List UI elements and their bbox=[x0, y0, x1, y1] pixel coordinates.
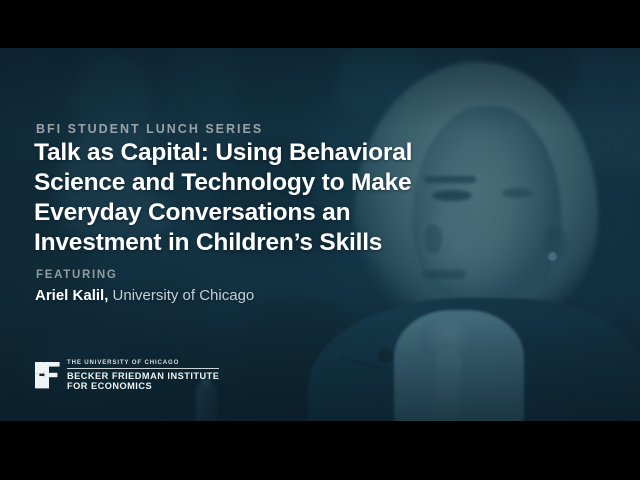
bfi-logo-lockup: THE UNIVERSITY OF CHICAGO BECKER FRIEDMA… bbox=[35, 359, 219, 392]
talk-title-line-4: Investment in Children’s Skills bbox=[34, 228, 464, 258]
speaker-affiliation: University of Chicago bbox=[113, 287, 255, 304]
logo-institute-line-2: FOR ECONOMICS bbox=[67, 381, 219, 392]
speaker-name: Ariel Kalil, bbox=[35, 287, 108, 304]
logo-institute-line-1: BECKER FRIEDMAN INSTITUTE bbox=[67, 371, 219, 382]
talk-title-line-2: Science and Technology to Make bbox=[34, 168, 464, 198]
letterbox-bar-top bbox=[0, 0, 640, 48]
letterbox-bar-bottom bbox=[0, 421, 640, 480]
talk-title-line-3: Everyday Conversations an bbox=[34, 198, 464, 228]
logo-divider-rule bbox=[67, 368, 219, 369]
series-eyebrow: BFI STUDENT LUNCH SERIES bbox=[36, 122, 263, 136]
title-overlay: BFI STUDENT LUNCH SERIES Talk as Capital… bbox=[0, 48, 640, 421]
talk-title-line-1: Talk as Capital: Using Behavioral bbox=[34, 138, 464, 168]
featuring-label: FEATURING bbox=[36, 269, 118, 281]
talk-title: Talk as Capital: Using Behavioral Scienc… bbox=[34, 138, 464, 258]
bf-monogram-icon bbox=[35, 361, 60, 390]
speaker-credit: Ariel Kalil, University of Chicago bbox=[35, 287, 254, 304]
video-frame: BFI STUDENT LUNCH SERIES Talk as Capital… bbox=[0, 0, 640, 480]
logo-wordmark: THE UNIVERSITY OF CHICAGO BECKER FRIEDMA… bbox=[67, 359, 219, 392]
logo-university-line: THE UNIVERSITY OF CHICAGO bbox=[67, 359, 219, 368]
